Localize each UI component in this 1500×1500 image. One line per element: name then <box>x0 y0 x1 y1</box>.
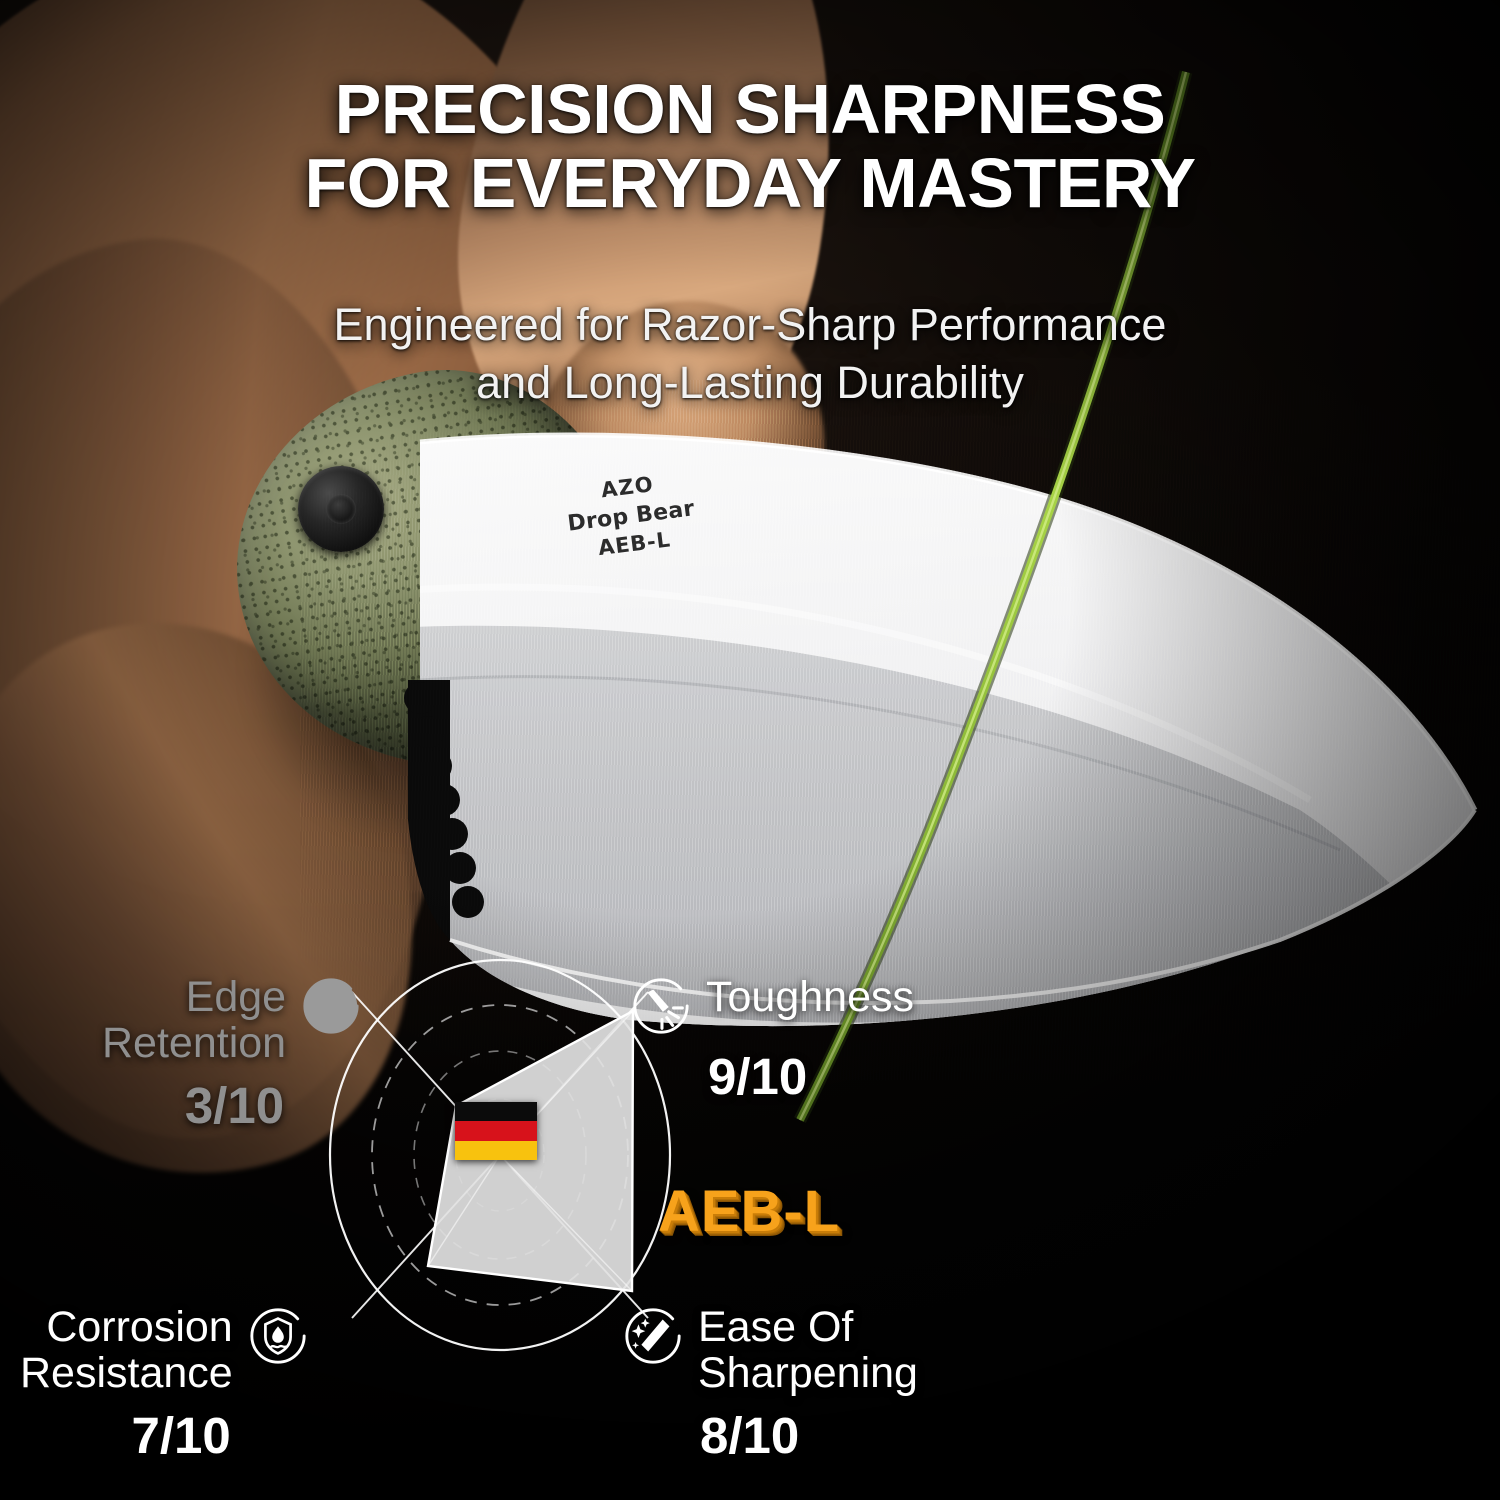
shield-droplet-icon <box>247 1305 309 1367</box>
german-flag-icon <box>455 1102 537 1160</box>
headline-line-2: FOR EVERYDAY MASTERY <box>0 146 1500 220</box>
flag-stripe-black <box>455 1102 537 1121</box>
stat-edge-retention: Edge Retention 3/10 <box>102 975 362 1134</box>
steel-spec-panel: Edge Retention 3/10 <box>0 930 1500 1500</box>
sparkle-blade-icon <box>622 1305 684 1367</box>
stat-value: 3/10 <box>102 1078 362 1134</box>
stat-label: Corrosion Resistance <box>20 1305 233 1396</box>
subheadline-line-2: and Long-Lasting Durability <box>0 354 1500 412</box>
stat-label: Toughness <box>706 975 914 1021</box>
stat-value: 9/10 <box>630 1049 914 1105</box>
page-title: PRECISION SHARPNESS FOR EVERYDAY MASTERY <box>0 72 1500 220</box>
product-marketing-image: AZO Drop Bear AEB-L PRECISION SHARPNESS … <box>0 0 1500 1500</box>
stat-label: Edge Retention <box>102 975 286 1066</box>
headline-line-1: PRECISION SHARPNESS <box>335 70 1166 148</box>
flag-stripe-red <box>455 1121 537 1140</box>
stat-corrosion-resistance: Corrosion Resistance 7/10 <box>20 1305 309 1464</box>
subheadline-line-1: Engineered for Razor-Sharp Performance <box>334 299 1167 350</box>
stat-ease-of-sharpening: Ease Of Sharpening 8/10 <box>622 1305 918 1464</box>
stat-value: 8/10 <box>622 1408 918 1464</box>
stat-toughness: Toughness 9/10 <box>630 975 914 1105</box>
knife-impact-icon <box>630 975 692 1037</box>
stat-value: 7/10 <box>20 1408 309 1464</box>
page-subtitle: Engineered for Razor-Sharp Performance a… <box>0 296 1500 411</box>
stat-label: Ease Of Sharpening <box>698 1305 918 1396</box>
knife-edge-icon <box>300 975 362 1037</box>
flag-stripe-gold <box>455 1141 537 1160</box>
